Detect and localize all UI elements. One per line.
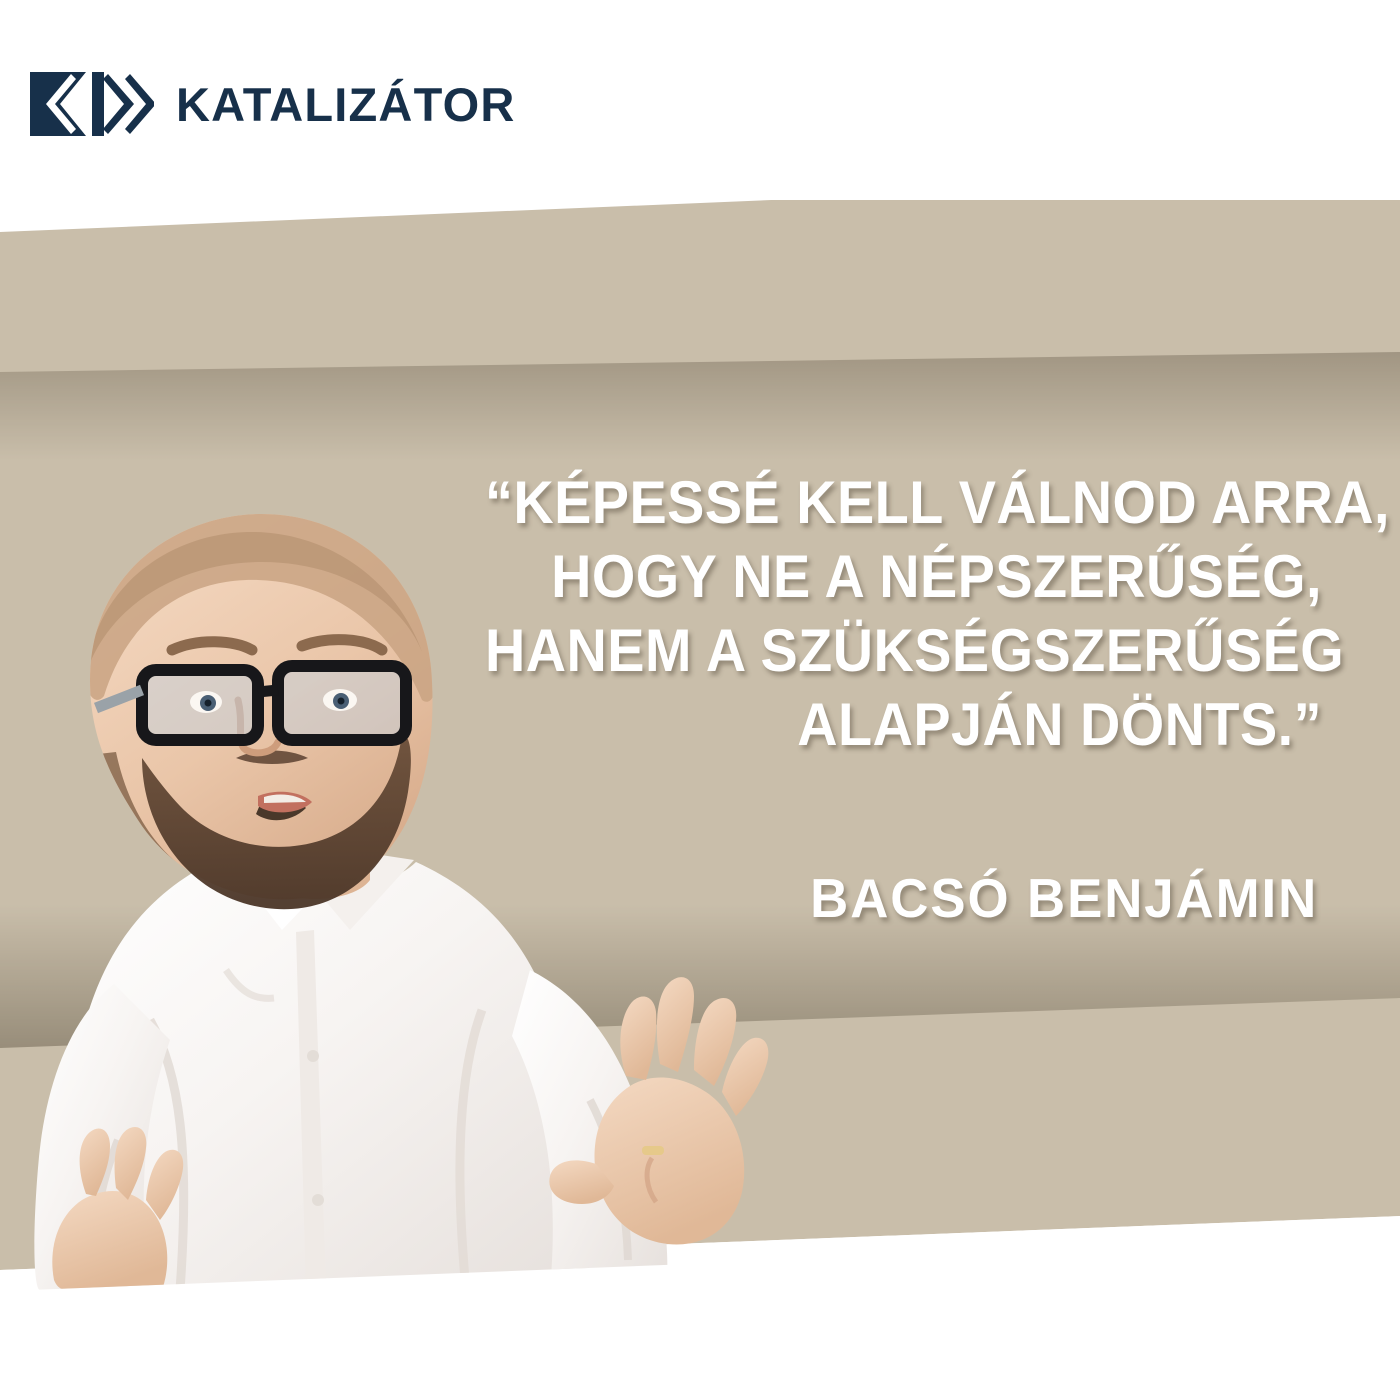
head	[86, 510, 436, 909]
glasses-bridge	[258, 690, 278, 692]
brand-name: KATALIZÁTOR	[176, 81, 516, 128]
brand-logo[interactable]: KATALIZÁTOR	[30, 72, 516, 136]
finger	[657, 977, 694, 1072]
finger	[620, 997, 656, 1080]
attribution-name: BACSÓ BENJÁMIN	[810, 866, 1318, 930]
quote-line: “KÉPESSÉ KELL VÁLNOD ARRA,	[485, 466, 1322, 540]
double-chevron-mark-icon	[30, 72, 154, 136]
quote-line: HANEM A SZÜKSÉGSZERŰSÉG	[485, 614, 1322, 688]
quote-line: ALAPJÁN DÖNTS.”	[485, 688, 1322, 762]
glasses	[96, 666, 406, 740]
shirt-button	[312, 1194, 324, 1206]
shirt-button	[307, 1050, 319, 1062]
quote-text: “KÉPESSÉ KELL VÁLNOD ARRA, HOGY NE A NÉP…	[422, 466, 1322, 762]
quote-line: HOGY NE A NÉPSZERŰSÉG,	[485, 540, 1322, 614]
ring	[642, 1146, 664, 1155]
header-bar: KATALIZÁTOR	[0, 0, 1400, 200]
quote-card: “KÉPESSÉ KELL VÁLNOD ARRA, HOGY NE A NÉP…	[0, 0, 1400, 1400]
